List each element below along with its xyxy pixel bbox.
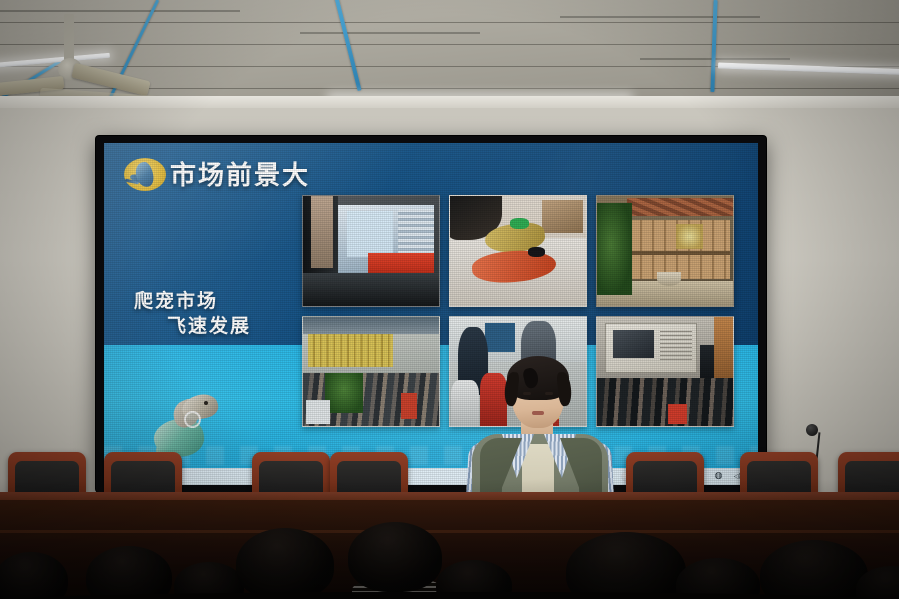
photo-market-expo-crowd bbox=[302, 316, 440, 428]
blue-support-rod bbox=[334, 0, 361, 91]
photo-costumed-lizards bbox=[449, 195, 587, 307]
audience-head bbox=[86, 546, 172, 599]
screen-surface[interactable]: 市场前景大 爬宠市场 飞速发展 bbox=[104, 143, 758, 485]
audience-area bbox=[0, 500, 899, 599]
audience-head bbox=[236, 528, 334, 599]
strip-light bbox=[718, 63, 899, 76]
screenshot-stage: 市场前景大 爬宠市场 飞速发展 bbox=[0, 0, 899, 599]
led-display-screen[interactable]: 市场前景大 爬宠市场 飞速发展 bbox=[96, 136, 766, 492]
green-iguana-image bbox=[148, 389, 222, 461]
reptile-circle-logo bbox=[124, 158, 166, 191]
network-icon[interactable]: ◍ bbox=[713, 471, 724, 482]
slide-subtitle-line2: 飞速发展 bbox=[167, 311, 251, 338]
audience-head bbox=[348, 522, 442, 592]
slide-title: 市场前景大 bbox=[170, 155, 310, 192]
photo-reptile-shop-display-case bbox=[302, 195, 440, 307]
slide-subtitle-line1: 爬宠市场 bbox=[134, 286, 218, 313]
photo-reptile-shop-interior bbox=[596, 195, 734, 307]
photo-classroom-lecture bbox=[596, 316, 734, 428]
blue-support-rod bbox=[710, 0, 717, 92]
